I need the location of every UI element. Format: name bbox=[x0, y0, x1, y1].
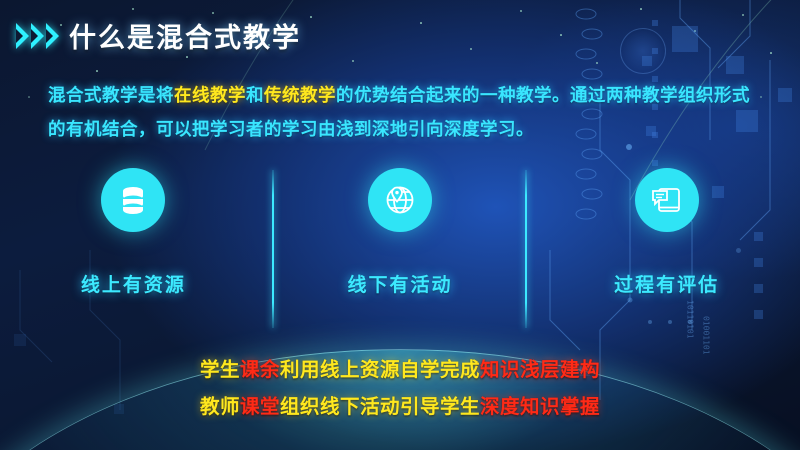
statement-part: 深度知识掌握 bbox=[480, 396, 600, 418]
feature-label: 线下有活动 bbox=[348, 270, 453, 297]
feature-label: 过程有评估 bbox=[614, 270, 719, 297]
statement-list: 学生课余利用线上资源自学完成知识浅层建构 教师课堂组织线下活动引导学生深度知识掌… bbox=[0, 352, 800, 426]
tablet-chat-icon bbox=[635, 168, 699, 232]
chevron-right-icon bbox=[16, 23, 29, 49]
database-icon bbox=[101, 168, 165, 232]
chevron-group bbox=[16, 23, 59, 49]
feature-item-offline-activities[interactable]: 线下有活动 bbox=[267, 168, 534, 328]
statement-line-student: 学生课余利用线上资源自学完成知识浅层建构 bbox=[0, 352, 800, 389]
body-highlight-online-teaching: 在线教学 bbox=[174, 85, 246, 105]
feature-list: 线上有资源 线下有活动 bbox=[0, 168, 800, 328]
body-highlight-traditional-teaching: 传统教学 bbox=[264, 85, 336, 105]
slide-title-row: 什么是混合式教学 bbox=[16, 16, 301, 55]
feature-divider bbox=[272, 170, 274, 328]
statement-part: 知识浅层建构 bbox=[480, 359, 600, 381]
statement-part: 组织线下活动引导学生 bbox=[280, 396, 480, 418]
slide-canvas: 10110101 01001101 bbox=[0, 0, 800, 450]
feature-item-online-resources[interactable]: 线上有资源 bbox=[0, 168, 267, 328]
statement-line-teacher: 教师课堂组织线下活动引导学生深度知识掌握 bbox=[0, 389, 800, 426]
chevron-right-icon bbox=[46, 23, 59, 49]
feature-item-process-assessment[interactable]: 过程有评估 bbox=[533, 168, 800, 328]
statement-part: 课堂 bbox=[240, 396, 280, 418]
statement-part: 学生 bbox=[200, 359, 240, 381]
feature-divider bbox=[525, 170, 527, 328]
body-segment-1: 混合式教学是将 bbox=[48, 85, 174, 105]
page-title: 什么是混合式教学 bbox=[69, 16, 301, 55]
body-segment-2: 和 bbox=[246, 85, 264, 105]
statement-part: 利用线上资源自学完成 bbox=[280, 359, 480, 381]
statement-part: 课余 bbox=[240, 359, 280, 381]
globe-location-icon bbox=[368, 168, 432, 232]
body-paragraph: 混合式教学是将在线教学和传统教学的优势结合起来的一种教学。通过两种教学组织形式的… bbox=[48, 78, 756, 146]
chevron-right-icon bbox=[31, 23, 44, 49]
feature-label: 线上有资源 bbox=[81, 270, 186, 297]
statement-part: 教师 bbox=[200, 396, 240, 418]
